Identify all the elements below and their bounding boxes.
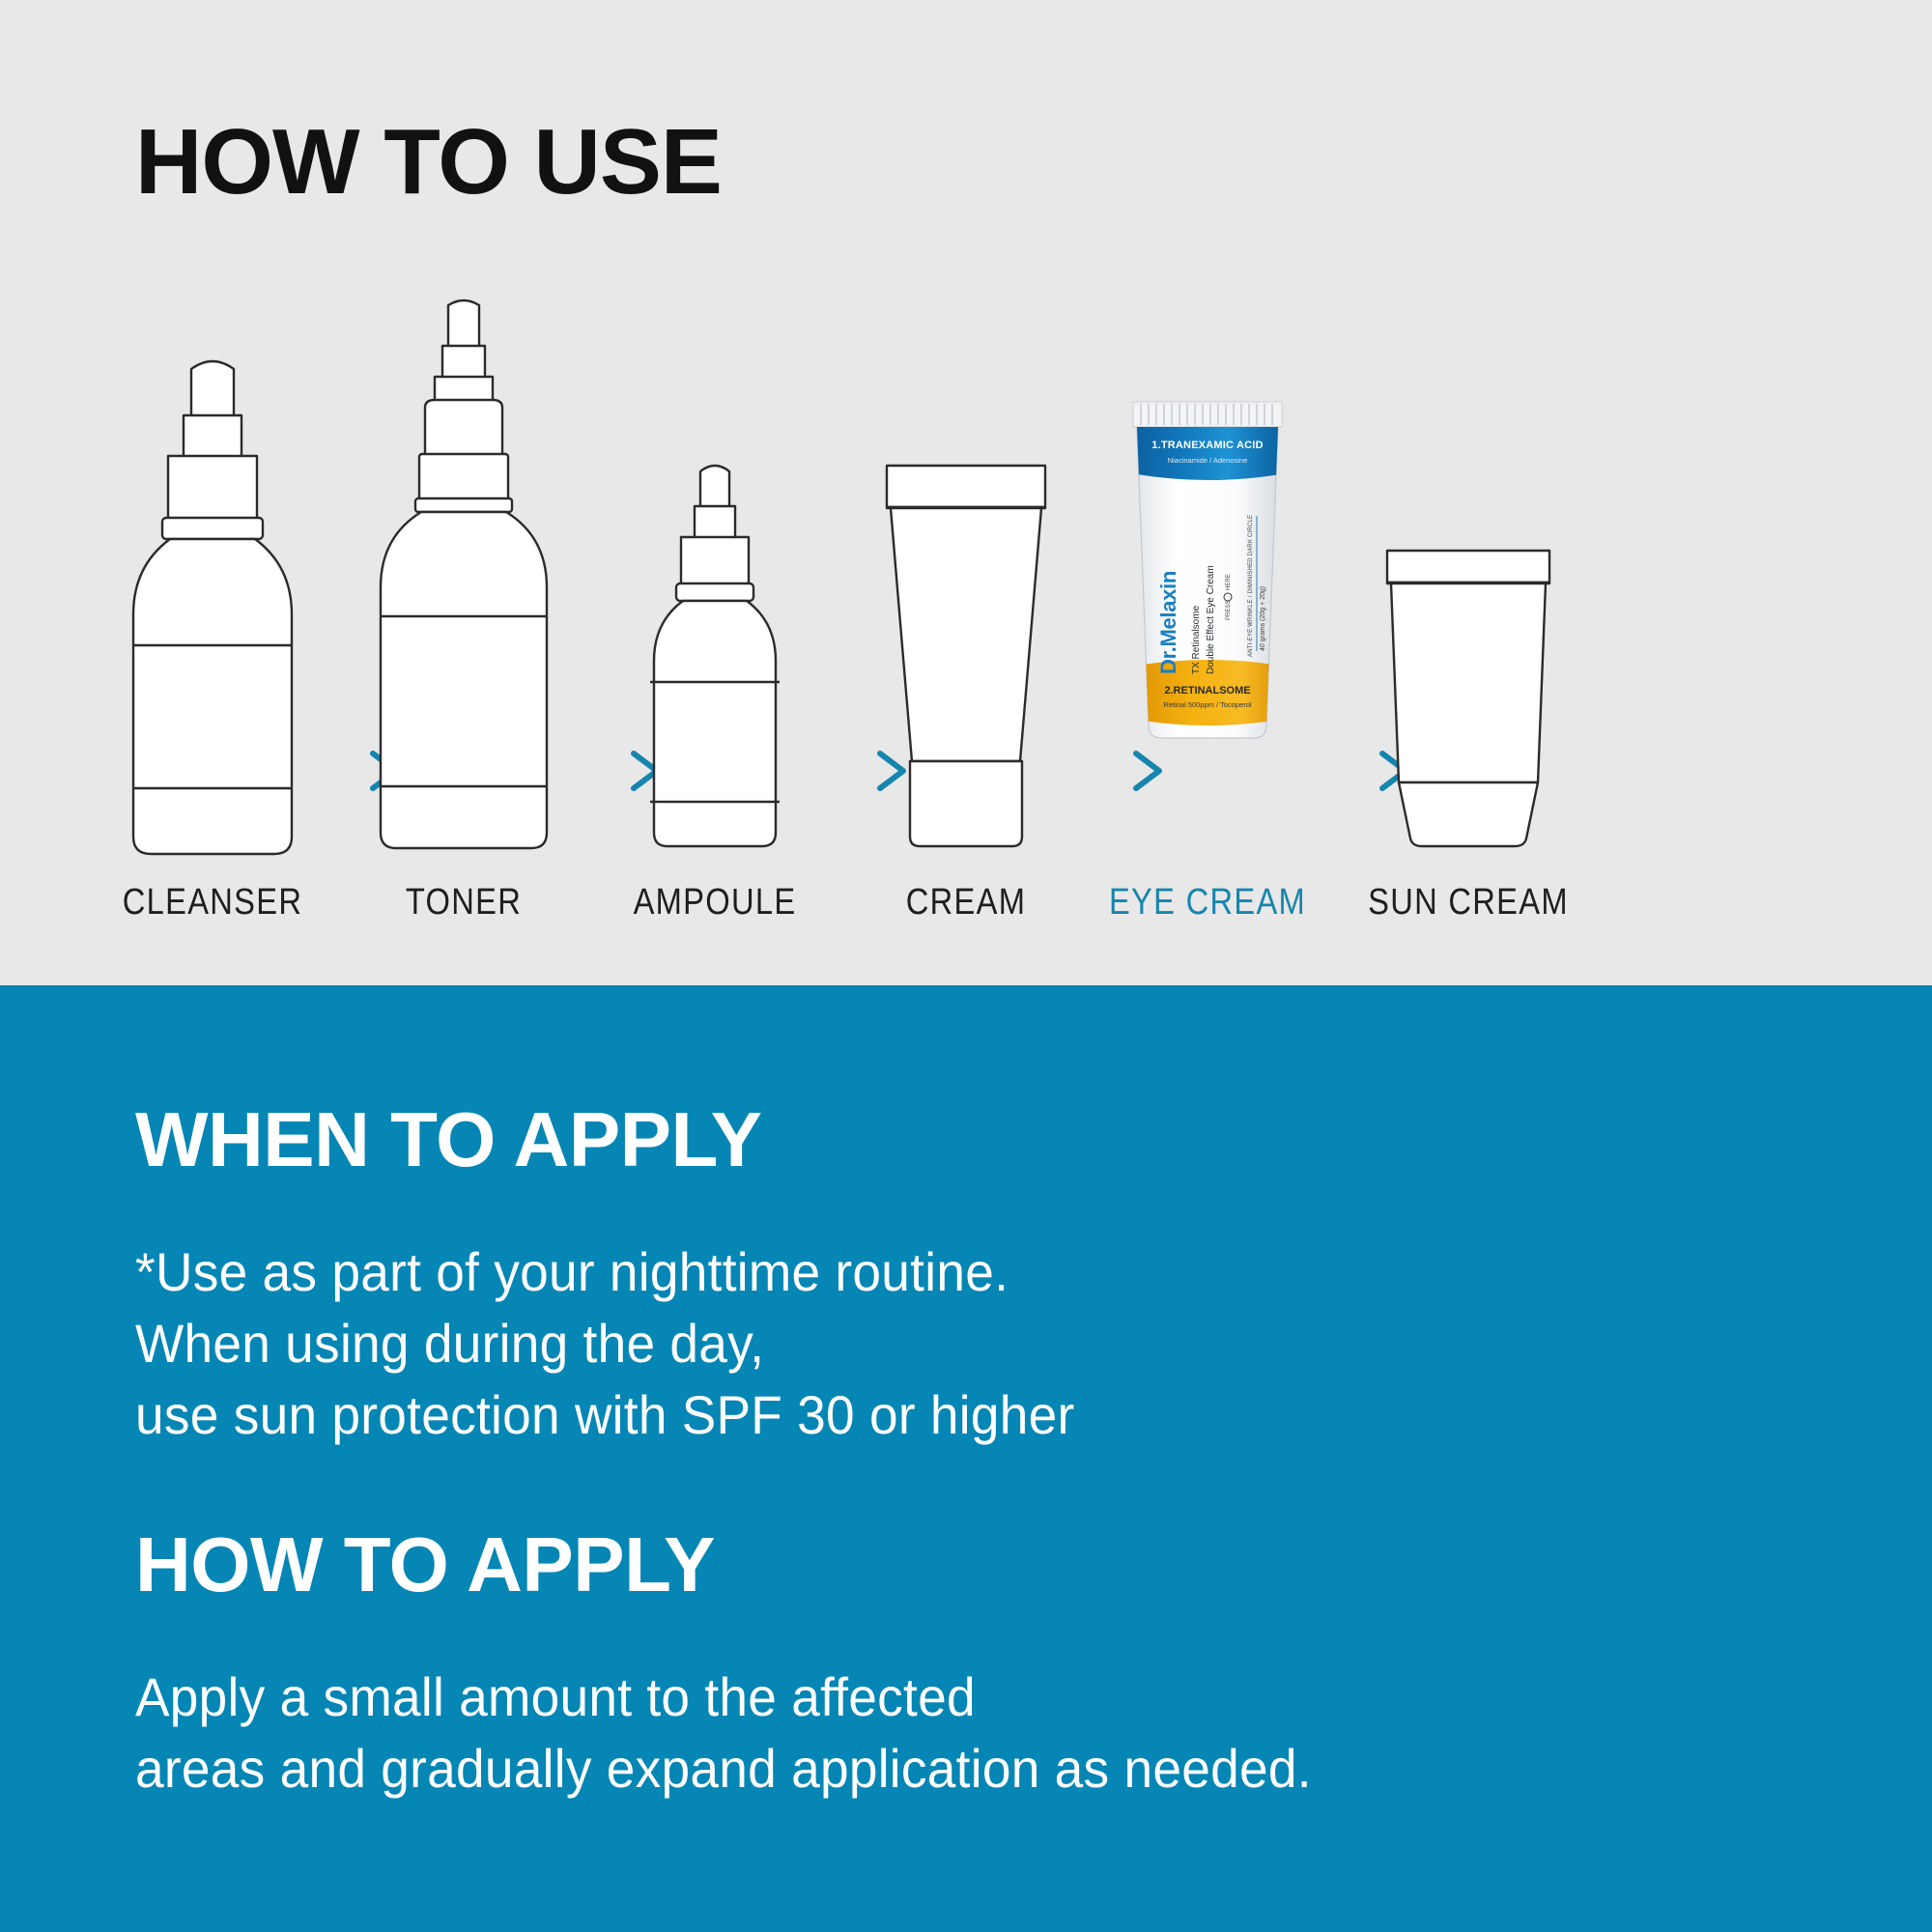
tube-line2: Double Effect Eye Cream [1206,565,1216,674]
step-ampoule[interactable]: AMPOULE [589,290,840,947]
dropper-bottle-large-icon [126,355,299,858]
step-eye-cream[interactable]: 1.TRANEXAMIC ACID Niacinamide / Adenosin… [1082,290,1333,947]
when-to-apply-body: *Use as part of your nighttime routine. … [135,1236,1074,1451]
cleanser-bottle-art [87,298,338,858]
apply-instructions-section: WHEN TO APPLY *Use as part of your night… [0,985,1932,1932]
step-label-toner: TONER [355,882,572,923]
dropper-bottle-small-icon [642,462,787,858]
eye-cream-tube-art: 1.TRANEXAMIC ACID Niacinamide / Adenosin… [1082,298,1333,858]
step-label-ampoule: AMPOULE [607,882,823,923]
step-sun-cream[interactable]: SUN CREAM [1343,290,1594,947]
step-label-cleanser: CLEANSER [104,882,321,923]
tube-bottom-subheading: Retinal 500ppm / Tocoperol [1163,700,1252,709]
page-title: HOW TO USE [135,116,722,209]
cream-tube-art [840,298,1092,858]
cream-tube-plain-icon [869,452,1063,858]
step-cream[interactable]: CREAM [840,290,1092,947]
how-to-apply-body: Apply a small amount to the affected are… [135,1662,1312,1804]
step-cleanser[interactable]: CLEANSER [87,290,338,947]
tube-top-subheading: Niacinamide / Adenosine [1168,456,1248,465]
sun-cream-tube-plain-icon [1362,539,1575,858]
step-label-eye-cream: EYE CREAM [1099,882,1316,923]
tube-press-label: PRESS [1226,601,1232,620]
step-toner[interactable]: TONER [338,290,589,947]
sun-cream-tube-art [1343,298,1594,858]
tube-top-band [1131,427,1286,480]
tube-bottom-heading: 2.RETINALSOME [1164,685,1250,696]
eye-cream-tube-branded-icon: 1.TRANEXAMIC ACID Niacinamide / Adenosin… [1116,392,1299,769]
step-label-sun-cream: SUN CREAM [1360,882,1577,923]
how-to-use-section: HOW TO USE [0,0,1932,985]
step-label-cream: CREAM [858,882,1074,923]
tube-line1: TX Retinalsome [1191,605,1202,674]
when-to-apply-title: WHEN TO APPLY [135,1101,761,1179]
routine-steps-row: CLEANSER [0,290,1932,947]
tube-press-suffix: HERE [1226,574,1232,590]
ampoule-bottle-art [589,298,840,858]
infographic-page: HOW TO USE [0,0,1932,1932]
tube-top-heading: 1.TRANEXAMIC ACID [1151,440,1263,451]
tube-crimp [1133,402,1282,427]
how-to-apply-title: HOW TO APPLY [135,1526,715,1604]
tube-brand: Dr.Melaxin [1156,571,1180,674]
toner-bottle-art [338,298,589,858]
tube-claim: ANTI-EYE WRINKLE / DIMINISHED DARK CIRCL… [1248,515,1254,657]
pump-bottle-tall-icon [367,298,560,858]
tube-net-weight: 40 grams (20g + 20g) [1260,586,1266,651]
